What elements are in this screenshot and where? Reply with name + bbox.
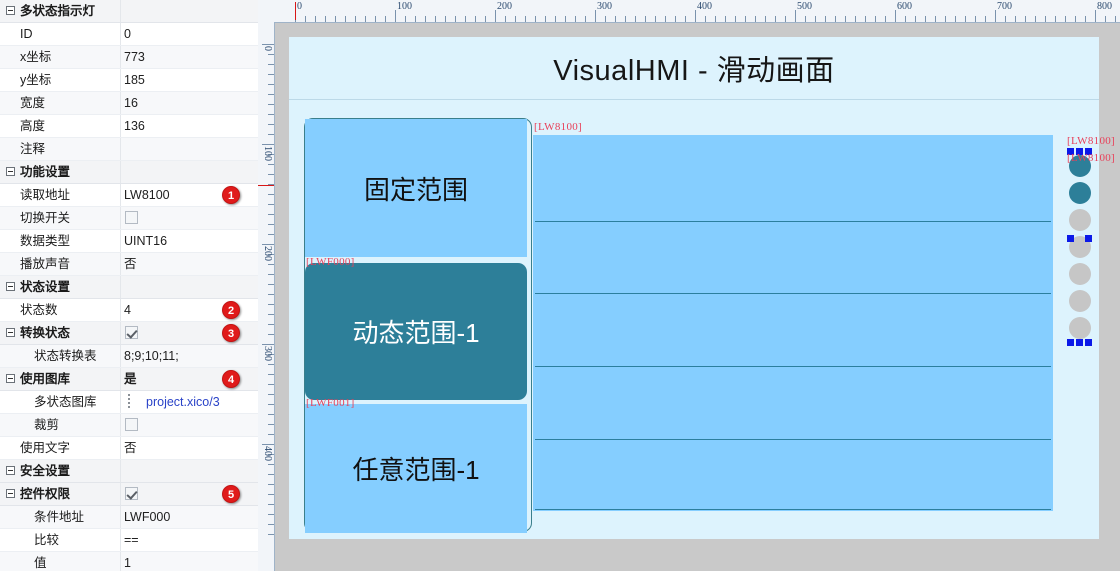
property-label: ID	[20, 23, 33, 45]
panel-divider	[535, 293, 1051, 294]
ruler-label: 100	[397, 1, 412, 12]
ruler-tick	[268, 324, 274, 325]
tag-lw8100-panel: [LW8100]	[534, 121, 582, 133]
ruler-label: 700	[997, 1, 1012, 12]
ruler-tick	[268, 524, 274, 525]
property-row[interactable]: 比较==	[0, 529, 258, 552]
ruler-tick	[1095, 10, 1096, 22]
ruler-tick	[895, 10, 896, 22]
ruler-tick	[955, 16, 956, 22]
property-group-label: 功能设置	[20, 161, 70, 183]
ruler-tick	[262, 44, 274, 45]
property-group-header[interactable]: 安全设置	[0, 460, 258, 483]
ruler-tick	[595, 10, 596, 22]
ruler-tick	[605, 16, 606, 22]
ruler-label: 300	[262, 346, 273, 361]
ruler-label: 400	[697, 1, 712, 12]
ruler-tick	[845, 16, 846, 22]
property-group-label: 状态设置	[20, 276, 70, 298]
property-value[interactable]: LWF000	[124, 506, 170, 528]
ruler-tick	[755, 16, 756, 22]
collapse-icon[interactable]	[6, 466, 15, 475]
ruler-tick	[268, 414, 274, 415]
ruler-tick	[645, 16, 646, 22]
ruler-tick	[745, 16, 746, 22]
ruler-tick	[268, 374, 274, 375]
ruler-tick	[268, 434, 274, 435]
property-group-header[interactable]: 功能设置	[0, 161, 258, 184]
column-divider	[120, 161, 121, 183]
column-divider	[120, 253, 121, 275]
property-label: 切换开关	[20, 207, 70, 229]
ruler-tick	[268, 94, 274, 95]
column-divider	[120, 46, 121, 68]
ruler-tick	[1065, 16, 1066, 22]
tag-lwf001: [LWF001]	[306, 397, 355, 409]
property-value-link[interactable]: project.xico/3	[146, 391, 220, 413]
property-row[interactable]: 宽度16	[0, 92, 258, 115]
ruler-tick	[262, 144, 274, 145]
screen-title-bar: VisualHMI - 滑动画面	[289, 37, 1099, 100]
ruler-tick	[575, 16, 576, 22]
ruler-tick	[975, 16, 976, 22]
callout-badge: 1	[222, 186, 240, 204]
ruler-tick	[1005, 16, 1006, 22]
property-value[interactable]: 否	[124, 437, 137, 459]
ruler-tick	[705, 16, 706, 22]
property-row[interactable]: 状态转换表8;9;10;11;	[0, 345, 258, 368]
ruler-tick	[515, 16, 516, 22]
property-group-header[interactable]: 使用图库是4	[0, 368, 258, 391]
ruler-tick	[262, 444, 274, 445]
ruler-tick	[945, 16, 946, 22]
ruler-tick	[875, 16, 876, 22]
ruler-tick	[268, 314, 274, 315]
ruler-label: 800	[1097, 1, 1112, 12]
ruler-tick	[268, 274, 274, 275]
resize-handle-w[interactable]	[1067, 235, 1074, 242]
ruler-tick	[305, 16, 306, 22]
tag-lw8100-lamp-b: [LW8100]	[1067, 152, 1115, 164]
column-divider	[120, 92, 121, 114]
property-value[interactable]: 是	[124, 368, 137, 390]
ruler-tick	[405, 16, 406, 22]
collapse-icon[interactable]	[6, 374, 15, 383]
property-label: 多状态图库	[34, 391, 97, 413]
ruler-tick	[268, 294, 274, 295]
ruler-tick	[268, 64, 274, 65]
column-divider	[120, 207, 121, 229]
property-value[interactable]: 0	[124, 23, 131, 45]
ruler-tick	[268, 304, 274, 305]
property-group-header[interactable]: 多状态指示灯	[0, 0, 258, 23]
range-box-free[interactable]: 任意范围-1	[305, 404, 527, 533]
property-label: 值	[34, 552, 47, 571]
tag-lwf000: [LWF000]	[306, 256, 355, 268]
ruler-cursor-marker	[258, 185, 274, 186]
column-divider	[120, 529, 121, 551]
property-row[interactable]: 条件地址LWF000	[0, 506, 258, 529]
ruler-tick	[545, 16, 546, 22]
column-divider	[120, 184, 121, 206]
property-checkbox[interactable]	[125, 487, 138, 500]
ruler-tick	[268, 424, 274, 425]
ruler-tick	[355, 16, 356, 22]
ruler-tick	[268, 164, 274, 165]
ruler-label: 100	[262, 146, 273, 161]
property-row[interactable]: x坐标773	[0, 46, 258, 69]
panel-divider	[535, 509, 1051, 510]
ruler-tick	[268, 134, 274, 135]
column-divider	[120, 230, 121, 252]
property-row[interactable]: ID0	[0, 23, 258, 46]
resize-handle-se[interactable]	[1085, 339, 1092, 346]
ruler-tick	[268, 534, 274, 535]
property-group-label: 安全设置	[20, 460, 70, 482]
ruler-tick	[725, 16, 726, 22]
ruler-tick	[715, 16, 716, 22]
ruler-tick	[555, 16, 556, 22]
range-box-dynamic[interactable]: 动态范围-1	[305, 263, 527, 400]
property-row[interactable]: 状态数42	[0, 299, 258, 322]
ruler-tick	[395, 10, 396, 22]
property-label: 状态数	[20, 299, 58, 321]
property-row[interactable]: 多状态图库project.xico/3	[0, 391, 258, 414]
hmi-screen[interactable]: VisualHMI - 滑动画面 固定范围 动态范围-1 任意范围-1 [LWF…	[289, 37, 1099, 539]
property-group-label: 多状态指示灯	[20, 0, 95, 22]
ruler-tick	[1015, 16, 1016, 22]
column-divider	[120, 552, 121, 571]
ruler-tick	[925, 16, 926, 22]
property-row[interactable]: 使用文字否	[0, 437, 258, 460]
ruler-tick	[268, 464, 274, 465]
property-checkbox[interactable]	[125, 418, 138, 431]
ruler-tick	[385, 16, 386, 22]
property-value[interactable]: 4	[124, 299, 131, 321]
ruler-tick	[268, 514, 274, 515]
collapse-icon[interactable]	[6, 6, 15, 15]
property-row[interactable]: 值1	[0, 552, 258, 571]
callout-badge: 2	[222, 301, 240, 319]
ruler-tick	[268, 334, 274, 335]
resize-handle-e[interactable]	[1085, 235, 1092, 242]
range-box-fixed[interactable]: 固定范围	[305, 119, 527, 257]
property-label: 使用文字	[20, 437, 70, 459]
ruler-tick	[915, 16, 916, 22]
ruler-label: 300	[597, 1, 612, 12]
property-row[interactable]: 播放声音否	[0, 253, 258, 276]
ruler-tick	[268, 214, 274, 215]
ruler-tick	[1055, 16, 1056, 22]
ruler-tick	[475, 16, 476, 22]
property-label: x坐标	[20, 46, 51, 68]
slide-panel[interactable]	[533, 135, 1053, 511]
callout-badge: 3	[222, 324, 240, 342]
ruler-tick	[835, 16, 836, 22]
ruler-tick	[635, 16, 636, 22]
property-row[interactable]: y坐标185	[0, 69, 258, 92]
ruler-tick	[1115, 16, 1116, 22]
property-group-label: 控件权限	[20, 483, 70, 505]
ruler-tick	[695, 10, 696, 22]
column-divider	[120, 483, 121, 505]
resize-handle-sw[interactable]	[1067, 339, 1074, 346]
ruler-tick	[785, 16, 786, 22]
property-value[interactable]: 1	[124, 552, 131, 571]
property-label: 注释	[20, 138, 45, 160]
column-divider	[120, 23, 121, 45]
ruler-tick	[795, 10, 796, 22]
property-row[interactable]: 数据类型UINT16	[0, 230, 258, 253]
property-label: 比较	[34, 529, 59, 551]
ruler-tick	[585, 16, 586, 22]
design-canvas[interactable]: VisualHMI - 滑动画面 固定范围 动态范围-1 任意范围-1 [LWF…	[275, 23, 1120, 571]
collapse-icon[interactable]	[6, 328, 15, 337]
ruler-tick	[1045, 16, 1046, 22]
ruler-tick	[268, 114, 274, 115]
property-checkbox[interactable]	[125, 211, 138, 224]
column-divider	[120, 69, 121, 91]
ruler-tick	[995, 10, 996, 22]
ruler-tick	[415, 16, 416, 22]
column-divider	[120, 276, 121, 298]
ruler-tick	[268, 284, 274, 285]
column-divider	[120, 345, 121, 367]
property-value[interactable]: 16	[124, 92, 138, 114]
column-divider	[120, 414, 121, 436]
ruler-tick	[525, 16, 526, 22]
ruler-tick	[1085, 16, 1086, 22]
ruler-tick	[775, 16, 776, 22]
property-group-label: 转换状态	[20, 322, 70, 344]
ruler-tick	[565, 16, 566, 22]
ruler-label: 600	[897, 1, 912, 12]
property-group-header[interactable]: 转换状态3	[0, 322, 258, 345]
ruler-tick	[335, 16, 336, 22]
ruler-label: 0	[297, 1, 302, 12]
property-row[interactable]: 注释	[0, 138, 258, 161]
ruler-tick	[815, 16, 816, 22]
property-label: 状态转换表	[34, 345, 97, 367]
horizontal-ruler: 0100200300400500600700800	[258, 0, 1120, 23]
ruler-tick	[435, 16, 436, 22]
callout-badge: 4	[222, 370, 240, 388]
dotted-connector-icon	[128, 394, 130, 410]
lamp-state-1[interactable]	[1069, 182, 1091, 204]
property-label: 高度	[20, 115, 45, 137]
ruler-tick	[268, 104, 274, 105]
panel-divider	[535, 439, 1051, 440]
panel-divider	[535, 221, 1051, 222]
ruler-tick	[268, 404, 274, 405]
ruler-tick	[1025, 16, 1026, 22]
property-value[interactable]: 136	[124, 115, 145, 137]
ruler-tick	[268, 194, 274, 195]
property-row[interactable]: 读取地址LW81001	[0, 184, 258, 207]
column-divider	[120, 506, 121, 528]
ruler-tick	[685, 16, 686, 22]
ruler-tick	[625, 16, 626, 22]
ruler-tick	[268, 504, 274, 505]
lamp-state-6[interactable]	[1069, 317, 1091, 339]
property-value[interactable]: 773	[124, 46, 145, 68]
ruler-tick	[268, 394, 274, 395]
property-label: 数据类型	[20, 230, 70, 252]
ruler-label: 200	[262, 246, 273, 261]
property-label: 宽度	[20, 92, 45, 114]
ruler-tick	[445, 16, 446, 22]
page-title: VisualHMI - 滑动画面	[289, 37, 1099, 99]
column-divider	[120, 437, 121, 459]
property-group-header[interactable]: 状态设置	[0, 276, 258, 299]
ruler-tick	[268, 474, 274, 475]
ruler-tick	[805, 16, 806, 22]
ruler-tick	[268, 364, 274, 365]
panel-divider	[535, 366, 1051, 367]
callout-badge: 5	[222, 485, 240, 503]
property-row[interactable]: 裁剪	[0, 414, 258, 437]
ruler-label: 0	[262, 46, 273, 51]
ruler-tick	[505, 16, 506, 22]
ruler-tick	[268, 124, 274, 125]
ruler-tick	[325, 16, 326, 22]
ruler-tick	[485, 16, 486, 22]
ruler-tick	[268, 84, 274, 85]
column-divider	[120, 460, 121, 482]
ruler-tick	[268, 384, 274, 385]
lamp-state-2[interactable]	[1069, 209, 1091, 231]
ruler-label: 200	[497, 1, 512, 12]
property-group-header[interactable]: 控件权限5	[0, 483, 258, 506]
ruler-tick	[268, 264, 274, 265]
property-value[interactable]: UINT16	[124, 230, 167, 252]
ruler-tick	[935, 16, 936, 22]
ruler-tick	[1105, 16, 1106, 22]
collapse-icon[interactable]	[6, 167, 15, 176]
property-row[interactable]: 高度136	[0, 115, 258, 138]
ruler-tick	[1075, 16, 1076, 22]
column-divider	[120, 299, 121, 321]
ruler-tick	[465, 16, 466, 22]
column-divider	[120, 391, 121, 413]
ruler-tick	[495, 10, 496, 22]
collapse-icon[interactable]	[6, 489, 15, 498]
ruler-tick	[885, 16, 886, 22]
property-label: 播放声音	[20, 253, 70, 275]
column-divider	[120, 322, 121, 344]
property-checkbox[interactable]	[125, 326, 138, 339]
property-value[interactable]: LW8100	[124, 184, 170, 206]
property-label: y坐标	[20, 69, 51, 91]
collapse-icon[interactable]	[6, 282, 15, 291]
column-divider	[120, 115, 121, 137]
property-panel[interactable]: 多状态指示灯ID0x坐标773y坐标185宽度16高度136注释功能设置读取地址…	[0, 0, 259, 571]
ruler-tick	[985, 16, 986, 22]
ruler-cursor-marker	[295, 2, 296, 20]
property-label: 裁剪	[34, 414, 59, 436]
ruler-tick	[365, 16, 366, 22]
ruler-tick	[675, 16, 676, 22]
ruler-tick	[905, 16, 906, 22]
ruler-tick	[315, 16, 316, 22]
property-value[interactable]: 185	[124, 69, 145, 91]
ruler-tick	[268, 174, 274, 175]
ruler-label: 400	[262, 446, 273, 461]
resize-handle-s[interactable]	[1076, 339, 1083, 346]
multistate-lamp-column[interactable]	[1064, 147, 1096, 407]
ruler-tick	[345, 16, 346, 22]
ruler-tick	[268, 224, 274, 225]
ruler-tick	[735, 16, 736, 22]
ruler-tick	[535, 16, 536, 22]
ruler-tick	[765, 16, 766, 22]
ruler-tick	[268, 74, 274, 75]
ruler-tick	[268, 234, 274, 235]
lamp-state-5[interactable]	[1069, 290, 1091, 312]
property-label: 读取地址	[20, 184, 70, 206]
column-divider	[120, 368, 121, 390]
ruler-tick	[655, 16, 656, 22]
ruler-tick	[1035, 16, 1036, 22]
ruler-tick	[268, 494, 274, 495]
ruler-tick	[825, 16, 826, 22]
ruler-tick	[615, 16, 616, 22]
ruler-tick	[268, 54, 274, 55]
column-divider	[120, 0, 121, 22]
ruler-tick	[965, 16, 966, 22]
left-range-group[interactable]: 固定范围 动态范围-1 任意范围-1	[304, 118, 532, 532]
property-value[interactable]: 否	[124, 253, 137, 275]
ruler-tick	[262, 344, 274, 345]
tag-lw8100-lamp-a: [LW8100]	[1067, 135, 1115, 147]
property-value[interactable]: ==	[124, 529, 139, 551]
property-label: 条件地址	[34, 506, 84, 528]
ruler-tick	[262, 244, 274, 245]
ruler-label: 500	[797, 1, 812, 12]
ruler-tick	[425, 16, 426, 22]
column-divider	[120, 138, 121, 160]
ruler-tick	[665, 16, 666, 22]
property-group-label: 使用图库	[20, 368, 70, 390]
ruler-tick	[455, 16, 456, 22]
lamp-state-4[interactable]	[1069, 263, 1091, 285]
vertical-ruler: 0100200300400	[258, 22, 275, 571]
property-value[interactable]: 8;9;10;11;	[124, 345, 179, 367]
ruler-tick	[268, 484, 274, 485]
ruler-tick	[375, 16, 376, 22]
ruler-tick	[268, 204, 274, 205]
ruler-tick	[855, 16, 856, 22]
property-row[interactable]: 切换开关	[0, 207, 258, 230]
ruler-tick	[865, 16, 866, 22]
